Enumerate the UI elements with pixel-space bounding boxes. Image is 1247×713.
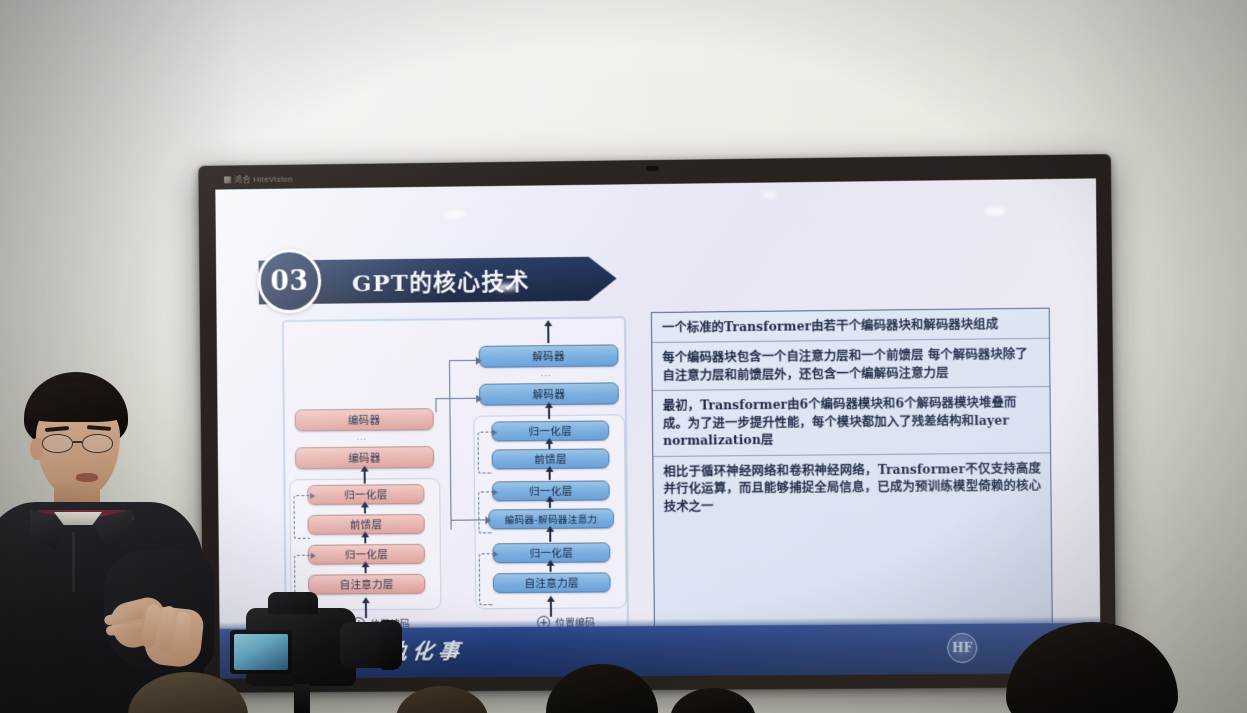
enc-fanout-join [435, 398, 451, 400]
glasses-lens-right [82, 434, 113, 453]
slide-title: GPT的核心技术 [352, 262, 530, 298]
lecture-hall-scene: 鸿合 HitéVision GPT的核心技术 03 编码器 ··· 编码器 [0, 0, 1247, 713]
brand-mark-icon [224, 176, 231, 183]
dec-arrow-ln3-to-cross [549, 531, 551, 542]
dec-arrow-to-stack [548, 407, 550, 419]
display-webcam-icon [646, 166, 658, 171]
decoder-self-attention: 自注意力层 [493, 572, 611, 593]
presenter [0, 372, 224, 713]
explanation-block-4: 相比于循环神经网络和卷积神经网络，Transformer不仅支持高度并行化运算，… [653, 452, 1050, 521]
presenter-mouth [76, 473, 98, 482]
enc-out-riser [435, 398, 437, 412]
dec-output-arrow [547, 325, 549, 343]
explanation-block-2: 每个编码器块包含一个自注意力层和一个前馈层 每个解码器块除了自注意力层和前馈层外… [652, 338, 1049, 390]
enc-arrow-attn-to-ln2 [365, 566, 367, 573]
dec-arrow-ff-to-ln1 [548, 443, 550, 449]
dec-residual-1 [478, 432, 492, 474]
dec-arrow-cross-to-ln2 [549, 501, 551, 508]
university-emblem-icon: HF [947, 633, 978, 663]
camera-lcd-panel [230, 630, 292, 674]
section-number-badge: 03 [257, 249, 321, 313]
presenter-finger [175, 612, 190, 654]
enc-to-dec-top-link [449, 360, 477, 362]
decoder-stack-top: 解码器 [479, 344, 619, 367]
explanation-block-3: 最初，Transformer由6个编码器模块和6个解码器模块堆叠而成。为了进一步… [653, 386, 1050, 455]
encoder-stack-top: 编码器 [295, 408, 434, 431]
dec-residual-2 [478, 491, 492, 533]
glasses-bridge [73, 441, 82, 443]
enc-arrow-ff-to-ln1 [364, 506, 366, 513]
presenter-shirt-placket [72, 532, 75, 592]
foreground-video-camera [228, 592, 418, 713]
decoder-ellipsis: ··· [541, 371, 552, 380]
camera-lens-hood [380, 620, 402, 670]
dec-arrow-attn-to-ln3 [550, 565, 552, 572]
explanation-panel: 一个标准的Transformer由若干个编码器块和解码器块组成 每个编码器块包含… [651, 308, 1053, 644]
enc-to-cross-attn-link [451, 519, 487, 521]
camera-tripod-mount [294, 684, 310, 713]
glasses-lens-left [42, 434, 73, 453]
enc-fanout-vertical [449, 360, 452, 530]
explanation-block-1: 一个标准的Transformer由若干个编码器块和解码器块组成 [652, 309, 1049, 343]
dec-residual-3 [479, 553, 493, 605]
dec-arrow-ln2-to-ff [549, 471, 551, 480]
brand-text: 鸿合 HitéVision [234, 174, 293, 186]
camera-lcd-screen [234, 634, 288, 670]
enc-arrow-ln2-to-ff [364, 536, 366, 543]
camera-top-handle [268, 592, 318, 614]
enc-arrow-to-stack [364, 471, 366, 484]
display-brand-label: 鸿合 HitéVision [224, 174, 293, 186]
presenter-glasses [42, 434, 120, 454]
encoder-ellipsis: ··· [356, 435, 367, 444]
enc-residual-1 [293, 495, 309, 539]
